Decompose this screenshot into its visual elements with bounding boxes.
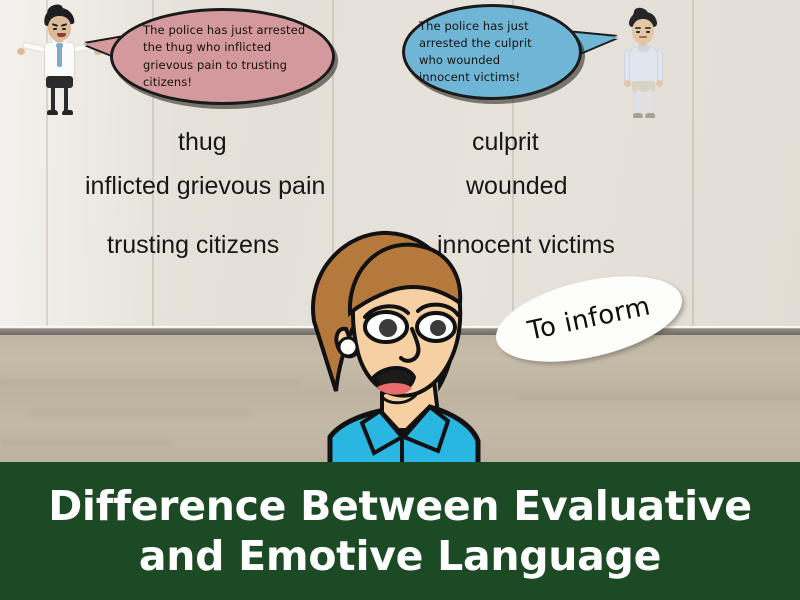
right-man-eyebrow (635, 27, 641, 29)
right-man-left-hand (624, 80, 631, 87)
title-banner: Difference Between Evaluative and Emotiv… (0, 462, 800, 600)
floor-streak (0, 380, 300, 385)
left-man-eye (53, 28, 57, 30)
floor-streak (520, 395, 800, 400)
slide-scene: The police has just arrested the thug wh… (0, 0, 800, 600)
title-line-1: Difference Between Evaluative (48, 481, 752, 531)
character-woman (262, 225, 512, 470)
emotive-word-thug: thug (178, 128, 227, 157)
evaluative-word-wounded: wounded (466, 172, 567, 201)
speech-bubble-evaluative-text: The police has just arrested the culprit… (419, 18, 553, 86)
right-man-right-hand (656, 80, 663, 87)
left-man-left-shoe (47, 110, 58, 115)
emotive-word-trusting-citizens: trusting citizens (107, 231, 279, 260)
left-man-right-shoe (62, 110, 73, 115)
right-man-eye (636, 31, 640, 33)
right-man-eyebrow (645, 27, 651, 29)
left-man-eye (62, 28, 66, 30)
left-man-hips (46, 76, 73, 88)
woman-earring (339, 338, 357, 356)
floor-streak (30, 410, 250, 415)
speech-bubble-evaluative: The police has just arrested the culprit… (402, 4, 582, 100)
right-man-eye (646, 31, 650, 33)
right-man-right-shoe (645, 113, 655, 118)
wall-panel-line (692, 0, 694, 334)
left-man-left-hand (17, 48, 25, 55)
speech-bubble-emotive: The police has just arrested the thug wh… (110, 8, 335, 105)
woman-pupil-left (379, 319, 397, 337)
floor-streak (0, 440, 170, 445)
right-man-left-shoe (633, 113, 643, 118)
speech-bubble-emotive-text: The police has just arrested the thug wh… (143, 22, 318, 90)
evaluative-word-culprit: culprit (472, 128, 539, 157)
emotive-word-inflicted-grievous-pain: inflicted grievous pain (85, 172, 325, 201)
title-line-2: and Emotive Language (139, 531, 661, 581)
left-man-tie (57, 44, 62, 67)
left-man-mouth (57, 33, 66, 37)
right-man-mouth (639, 36, 647, 38)
woman-pupil-right (430, 320, 446, 336)
to-inform-label: To inform (525, 291, 653, 346)
